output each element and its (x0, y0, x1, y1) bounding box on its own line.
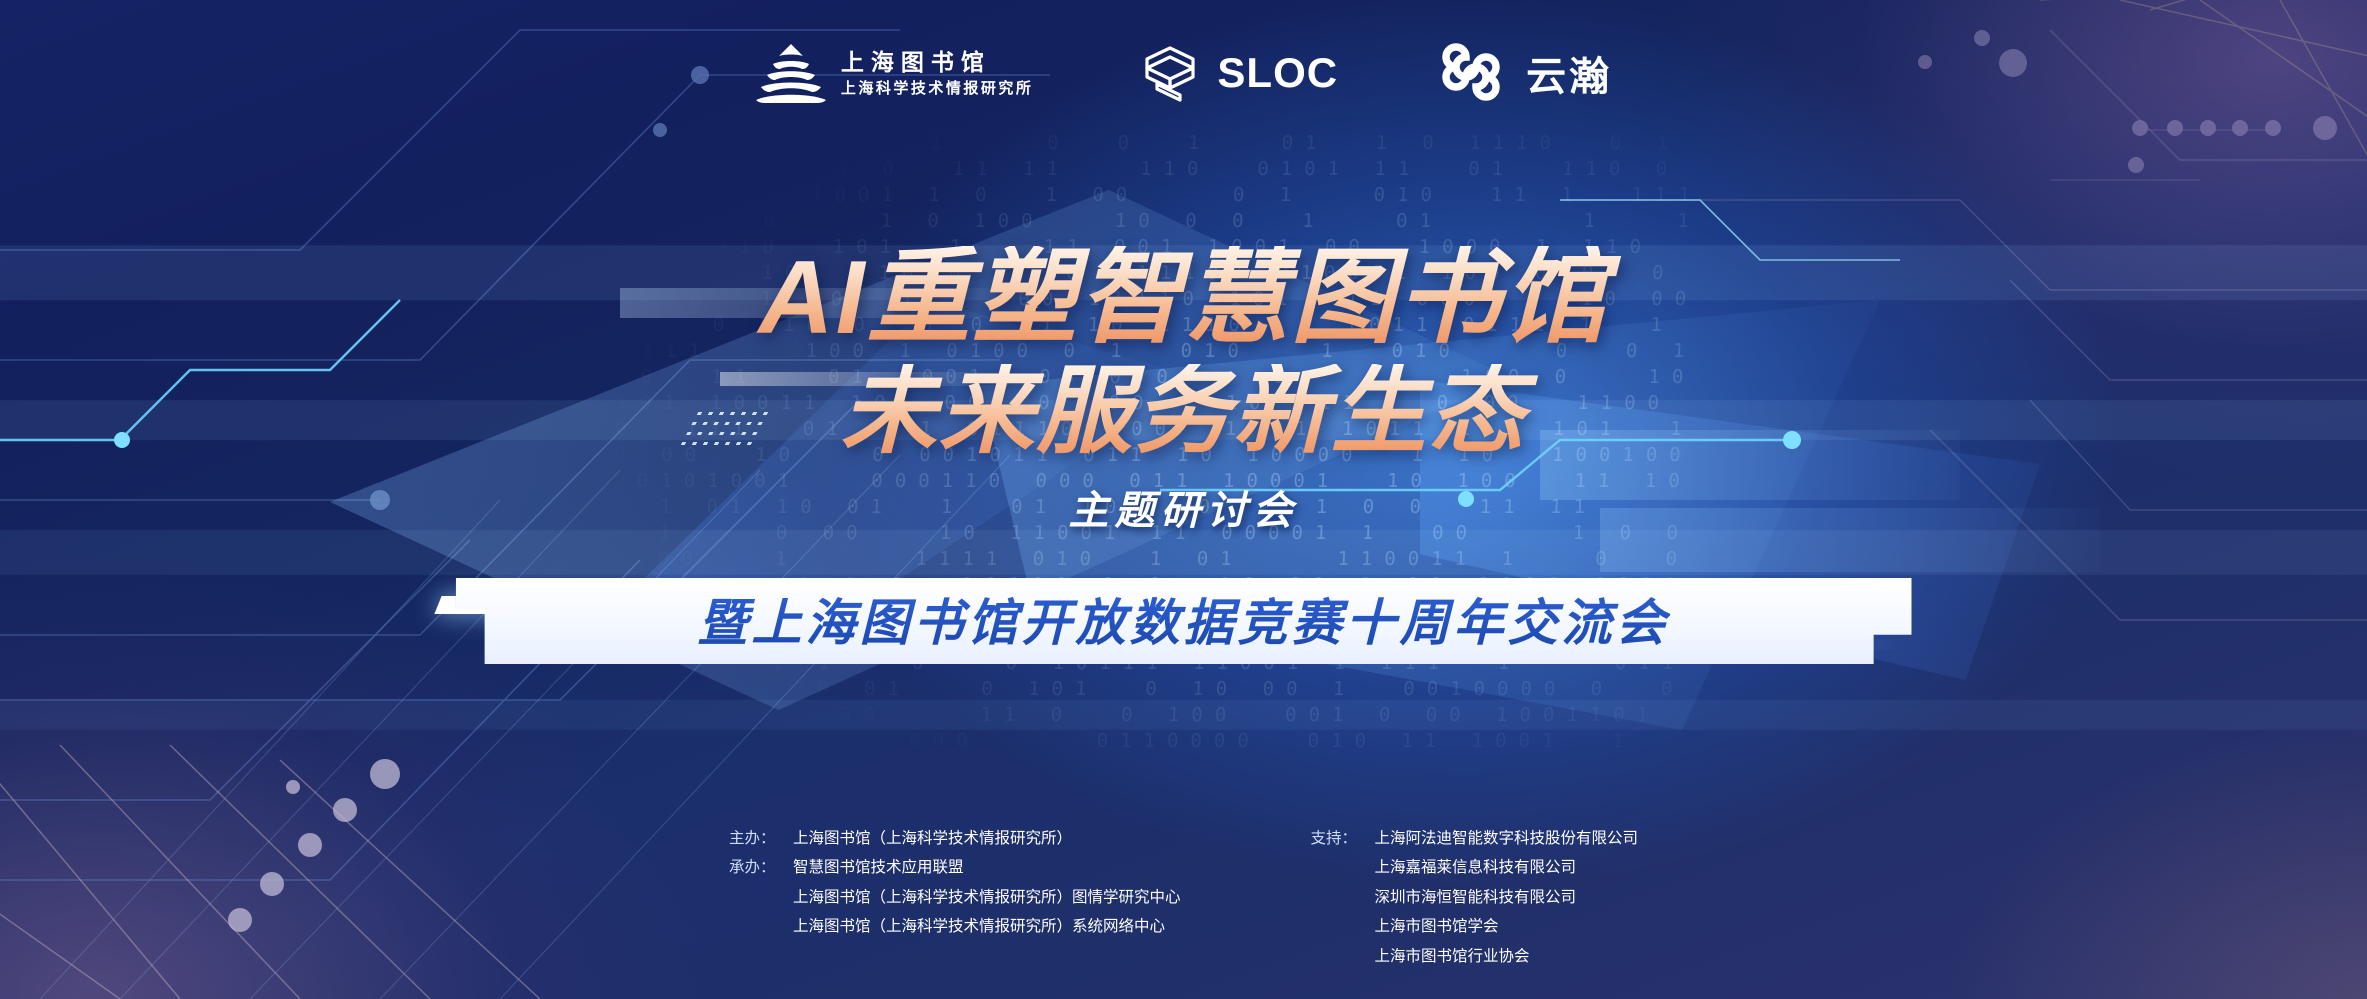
logo-yunhan[interactable]: 云瀚 (1442, 42, 1612, 104)
support-value-3: 深圳市海恒智能科技有限公司 (1375, 887, 1577, 909)
sloc-cube-icon (1137, 42, 1203, 104)
host-value-3: 上海图书馆（上海科学技术情报研究所）系统网络中心 (793, 916, 1165, 938)
credits-section: 主办： 上海图书馆（上海科学技术情报研究所） 承办： 智慧图书馆技术应用联盟 承… (0, 828, 2367, 958)
yunhan-swirl-icon (1442, 42, 1512, 104)
title-line-1: AI重塑智慧图书馆 (0, 246, 2367, 350)
title-subtitle: 主题研讨会 (0, 478, 2367, 536)
host-value-2: 上海图书馆（上海科学技术情报研究所）图情学研究中心 (793, 887, 1181, 909)
host-label: 承办： (729, 857, 793, 879)
credit-row: 支持： 上海市图书馆行业协会 (1311, 946, 1639, 968)
yunhan-wordmark: 云瀚 (1526, 44, 1612, 102)
credit-row: 承办： 上海图书馆（上海科学技术情报研究所）图情学研究中心 (729, 887, 1181, 909)
sloc-wordmark: SLOC (1217, 49, 1338, 97)
credits-column-right: 支持： 上海阿法迪智能数字科技股份有限公司 支持： 上海嘉福莱信息科技有限公司 … (1311, 828, 1639, 968)
organizer-label: 主办： (729, 828, 793, 850)
credit-row: 支持： 上海嘉福莱信息科技有限公司 (1311, 857, 1639, 879)
support-value-4: 上海市图书馆学会 (1375, 916, 1499, 938)
support-value-2: 上海嘉福莱信息科技有限公司 (1375, 857, 1577, 879)
credit-row: 主办： 上海图书馆（上海科学技术情报研究所） (729, 828, 1181, 850)
banner-strip: 暨上海图书馆开放数据竞赛十周年交流会 (0, 566, 2367, 676)
host-value-1: 智慧图书馆技术应用联盟 (793, 857, 964, 879)
poster-canvas: 0000101 01 1 0 0 1 01 1 0 1110 0 1 0011 … (0, 0, 2367, 999)
support-value-1: 上海阿法迪智能数字科技股份有限公司 (1375, 828, 1639, 850)
support-value-5: 上海市图书馆行业协会 (1375, 946, 1530, 968)
sponsor-logo-bar: 上海图书馆 上海科学技术情报研究所 SLOC 云瀚 (0, 42, 2367, 104)
title-block: AI重塑智慧图书馆 未来服务新生态 主题研讨会 (0, 246, 2367, 536)
credit-row: 支持： 上海市图书馆学会 (1311, 916, 1639, 938)
credit-row: 承办： 智慧图书馆技术应用联盟 (729, 857, 1181, 879)
banner-text: 暨上海图书馆开放数据竞赛十周年交流会 (698, 583, 1670, 655)
library-mountain-icon (755, 42, 827, 104)
banner-plate: 暨上海图书馆开放数据竞赛十周年交流会 (456, 578, 1912, 664)
credit-row: 承办： 上海图书馆（上海科学技术情报研究所）系统网络中心 (729, 916, 1181, 938)
credits-column-left: 主办： 上海图书馆（上海科学技术情报研究所） 承办： 智慧图书馆技术应用联盟 承… (729, 828, 1181, 939)
shanghai-library-name-cn: 上海图书馆 (841, 51, 1034, 74)
credit-row: 支持： 上海阿法迪智能数字科技股份有限公司 (1311, 828, 1639, 850)
title-line-2: 未来服务新生态 (0, 364, 2367, 460)
logo-shanghai-library[interactable]: 上海图书馆 上海科学技术情报研究所 (755, 42, 1034, 104)
shanghai-library-institute-cn: 上海科学技术情报研究所 (841, 81, 1034, 96)
support-label: 支持： (1311, 828, 1375, 850)
organizer-value: 上海图书馆（上海科学技术情报研究所） (793, 828, 1072, 850)
credit-row: 支持： 深圳市海恒智能科技有限公司 (1311, 887, 1639, 909)
logo-sloc[interactable]: SLOC (1137, 42, 1338, 104)
